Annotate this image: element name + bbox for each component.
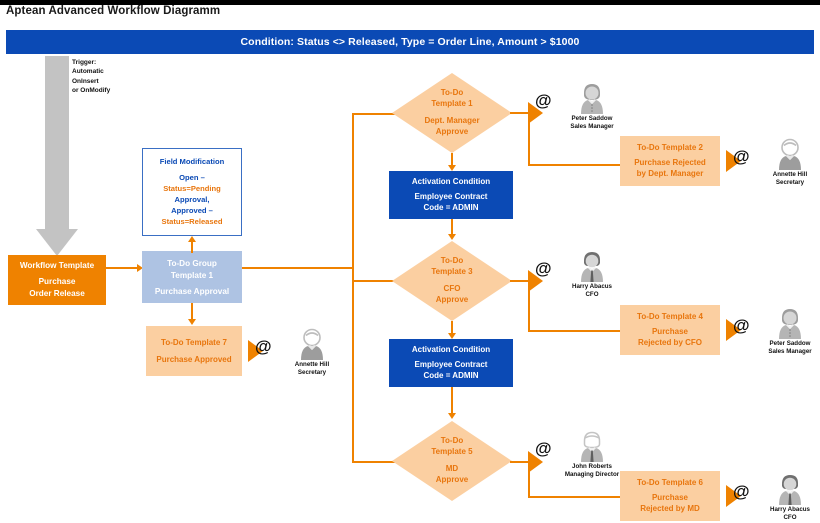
arrowhead-group-to-field-mod: [188, 236, 196, 242]
field-mod-line-2: Status=Pending: [162, 183, 223, 194]
person-harry-abacus-bottom: @ Harry Abacus CFO: [750, 473, 820, 522]
diamond1-title: To-Do Template 1: [431, 88, 472, 110]
todo6-title: To-Do Template 6: [637, 478, 703, 487]
connector-group-to-spine: [242, 267, 354, 269]
person-name-annette-top: Annette Hill Secretary: [773, 171, 807, 187]
workflow-template-title: Workflow Template: [20, 261, 94, 270]
page-title: Aptean Advanced Workflow Diagramm: [6, 5, 220, 17]
todo4-title: To-Do Template 4: [637, 312, 703, 321]
person-annette-hill-left: @ Annette Hill Secretary: [272, 328, 352, 377]
field-mod-line-3: Approval,: [162, 194, 223, 205]
diamond3-title: To-Do Template 3: [431, 256, 472, 278]
at-sign-icon-harry-mid: @: [535, 260, 552, 277]
todo-group-title: To-Do Group Template 1: [167, 258, 217, 280]
node-todo-template-6[interactable]: To-Do Template 6 Purchase Rejected by MD: [620, 471, 720, 521]
node-todo-template-4[interactable]: To-Do Template 4 Purchase Rejected by CF…: [620, 305, 720, 355]
node-diamond-todo-template-5[interactable]: To-Do Template 5 MD Approve: [392, 421, 512, 501]
activation2-title: Activation Condition: [412, 345, 490, 354]
at-sign-icon-harry-bottom: @: [733, 483, 750, 500]
node-diamond-todo-template-1[interactable]: To-Do Template 1 Dept. Manager Approve: [392, 73, 512, 153]
diamond5-title: To-Do Template 5: [431, 436, 472, 458]
condition-banner: Condition: Status <> Released, Type = Or…: [6, 30, 814, 54]
connector-workflow-to-group: [106, 267, 139, 269]
node-field-modification[interactable]: Field Modification Open – Status=Pending…: [142, 148, 242, 236]
connector-diamond3-elbow-h: [528, 330, 621, 332]
node-activation-condition-2[interactable]: Activation Condition Employee Contract C…: [389, 339, 513, 387]
condition-banner-text: Condition: Status <> Released, Type = Or…: [241, 36, 580, 48]
person-name-john-bottom: John Roberts Managing Director: [565, 463, 619, 479]
connector-spine-vertical: [352, 113, 354, 463]
activation1-subtitle: Employee Contract Code = ADMIN: [415, 191, 488, 213]
person-harry-abacus-mid: @ Harry Abacus CFO: [552, 250, 632, 299]
person-name-harry-bottom: Harry Abacus CFO: [770, 506, 810, 522]
avatar-icon-harry-mid: [577, 250, 607, 282]
person-name-harry-mid: Harry Abacus CFO: [572, 283, 612, 299]
todo2-title: To-Do Template 2: [637, 143, 703, 152]
arrowhead-activation2-to-diamond5: [448, 413, 456, 419]
activation2-subtitle: Employee Contract Code = ADMIN: [415, 359, 488, 381]
node-todo-template-2[interactable]: To-Do Template 2 Purchase Rejected by De…: [620, 136, 720, 186]
node-workflow-template[interactable]: Workflow Template Purchase Order Release: [8, 255, 106, 305]
diamond3-subtitle: CFO Approve: [436, 284, 468, 306]
connector-diamond1-to-peter: [510, 112, 530, 114]
person-peter-saddow-top: @ Peter Saddow Sales Manager: [552, 82, 632, 131]
at-sign-icon-peter-mid: @: [733, 317, 750, 334]
connector-activation1-to-diamond3: [451, 219, 453, 235]
todo2-subtitle: Purchase Rejected by Dept. Manager: [634, 157, 706, 179]
activation1-title: Activation Condition: [412, 177, 490, 186]
field-mod-line-4: Approved –: [162, 205, 223, 216]
person-name-annette-left: Annette Hill Secretary: [295, 361, 329, 377]
arrowhead-activation1-to-diamond3: [448, 234, 456, 240]
avatar-icon-annette-top: [775, 138, 805, 170]
node-todo-template-7[interactable]: To-Do Template 7 Purchase Approved: [146, 326, 242, 376]
avatar-icon-peter-top: [577, 82, 607, 114]
field-mod-line-1: Open –: [162, 172, 223, 183]
connector-diamond1-elbow-v: [528, 112, 530, 166]
at-sign-icon-annette-left: @: [255, 338, 272, 355]
diamond5-subtitle: MD Approve: [436, 464, 468, 486]
connector-diamond1-elbow-h: [528, 164, 621, 166]
avatar-icon-john-bottom: [577, 430, 607, 462]
connector-group-to-field-mod: [191, 241, 193, 253]
at-sign-icon-annette-top: @: [733, 148, 750, 165]
person-peter-saddow-mid: @ Peter Saddow Sales Manager: [750, 307, 820, 356]
person-name-peter-mid: Peter Saddow Sales Manager: [768, 340, 811, 356]
node-diamond-todo-template-3[interactable]: To-Do Template 3 CFO Approve: [392, 241, 512, 321]
todo-group-subtitle: Purchase Approval: [155, 287, 229, 296]
connector-diamond5-elbow-h: [528, 496, 621, 498]
node-activation-condition-1[interactable]: Activation Condition Employee Contract C…: [389, 171, 513, 219]
at-sign-icon-peter-top: @: [535, 92, 552, 109]
diamond1-subtitle: Dept. Manager Approve: [424, 116, 479, 138]
field-mod-line-5: Status=Released: [162, 216, 223, 227]
avatar-icon-peter-mid: [775, 307, 805, 339]
avatar-icon-harry-bottom: [775, 473, 805, 505]
at-sign-icon-john-bottom: @: [535, 440, 552, 457]
person-annette-hill-top: @ Annette Hill Secretary: [750, 138, 820, 187]
node-todo-group-template-1[interactable]: To-Do Group Template 1 Purchase Approval: [142, 251, 242, 303]
connector-activation2-to-diamond5: [451, 387, 453, 415]
trigger-label: Trigger: Automatic OnInsert or OnModify: [72, 58, 110, 96]
todo7-title: To-Do Template 7: [161, 338, 227, 347]
todo4-subtitle: Purchase Rejected by CFO: [638, 326, 702, 348]
todo6-subtitle: Purchase Rejected by MD: [640, 492, 700, 514]
workflow-diagram-canvas: Aptean Advanced Workflow Diagramm Condit…: [0, 0, 820, 523]
arrowhead-group-to-todo7: [188, 319, 196, 325]
todo7-subtitle: Purchase Approved: [156, 355, 231, 364]
workflow-template-subtitle: Purchase Order Release: [29, 276, 85, 299]
avatar-icon-annette-left: [297, 328, 327, 360]
person-name-peter-top: Peter Saddow Sales Manager: [570, 115, 613, 131]
connector-diamond3-to-harry: [510, 280, 530, 282]
connector-diamond5-elbow-v: [528, 461, 530, 498]
field-modification-title: Field Modification: [160, 157, 225, 166]
connector-diamond5-to-john: [510, 461, 530, 463]
connector-diamond3-elbow-v: [528, 280, 530, 332]
